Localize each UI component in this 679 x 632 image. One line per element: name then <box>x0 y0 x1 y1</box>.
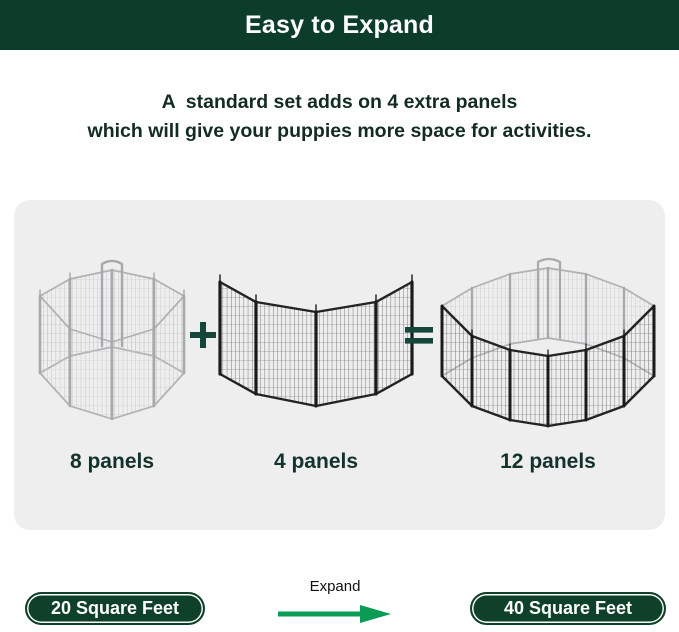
subtitle-line-1: A standard set adds on 4 extra panels <box>0 88 679 117</box>
page-title: Easy to Expand <box>245 13 434 38</box>
header-bar: Easy to Expand <box>0 0 679 50</box>
panel-count-label-12: 12 panels <box>434 450 662 474</box>
fence-illustration-8-panels <box>22 234 202 434</box>
fence-column-12-panels: 12 panels <box>434 200 662 530</box>
expand-indicator: Expand <box>272 578 398 626</box>
fence-column-4-panels: 4 panels <box>210 200 422 530</box>
diagram-card: 8 panels <box>14 200 665 530</box>
equals-sign-icon <box>402 318 436 352</box>
fence-column-8-panels: 8 panels <box>22 200 202 530</box>
fence-illustration-4-panels <box>210 234 422 434</box>
square-feet-badge-right: 40 Square Feet <box>470 592 666 625</box>
fence-illustration-12-panels <box>434 234 662 434</box>
expand-caption: Expand <box>272 578 398 595</box>
panel-count-label-8: 8 panels <box>22 450 202 474</box>
square-feet-badge-left: 20 Square Feet <box>25 592 205 625</box>
right-arrow-icon <box>278 604 392 624</box>
panel-count-label-4: 4 panels <box>210 450 422 474</box>
subtitle-block: A standard set adds on 4 extra panels wh… <box>0 88 679 146</box>
subtitle-line-2: which will give your puppies more space … <box>0 117 679 146</box>
